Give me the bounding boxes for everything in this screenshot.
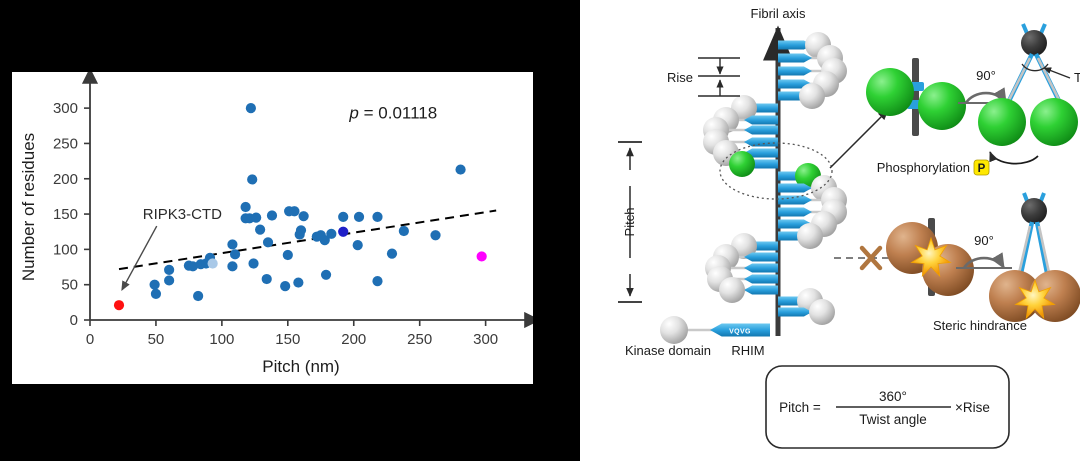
pitch-formula-box: Pitch =360°Twist angle×Rise xyxy=(766,366,1009,448)
data-point[interactable] xyxy=(255,225,265,235)
data-point[interactable] xyxy=(251,212,261,222)
data-point[interactable] xyxy=(248,258,258,268)
data-point[interactable] xyxy=(164,275,174,285)
data-point[interactable] xyxy=(208,258,218,268)
dark-hub-sphere-bottom xyxy=(1021,198,1047,224)
y-axis-tick-label: 150 xyxy=(53,206,78,223)
rhim-arrow xyxy=(744,286,778,295)
scatter-plot-svg: 050100150200250300050100150200250300Pitc… xyxy=(12,72,533,384)
y-axis-tick-label: 300 xyxy=(53,100,78,117)
rhim-arrow xyxy=(778,54,812,63)
rhim-arrow xyxy=(744,138,778,147)
rise-label: Rise xyxy=(667,70,693,85)
formula-numerator: 360° xyxy=(879,389,907,404)
rhim-arrow xyxy=(778,196,812,205)
data-point[interactable] xyxy=(372,276,382,286)
data-point[interactable] xyxy=(455,164,465,174)
data-point[interactable] xyxy=(296,225,306,235)
y-axis-tick-label: 0 xyxy=(70,312,78,329)
x-axis-tick-label: 100 xyxy=(209,331,234,348)
ripk3-ctd-arrow xyxy=(122,226,157,290)
y-axis-title: Number of residues xyxy=(19,133,38,281)
grey-protomer-sphere xyxy=(809,299,835,325)
scatter-series xyxy=(150,103,466,301)
data-point[interactable] xyxy=(387,249,397,259)
rhim-label: RHIM xyxy=(731,343,764,358)
formula-lhs: Pitch = xyxy=(779,400,821,415)
phosphorylation-arrow xyxy=(990,152,1038,164)
scatter-series xyxy=(208,258,218,268)
grey-protomer-sphere xyxy=(719,277,745,303)
fibril-diagram-svg: Fibril axisRisePitchVQVGKinase domainRHI… xyxy=(580,0,1080,461)
x-axis-tick-label: 0 xyxy=(86,331,94,348)
fibril-axis-label: Fibril axis xyxy=(751,6,806,21)
data-point[interactable] xyxy=(164,265,174,275)
twist-angle-label: Twist angle xyxy=(1074,70,1080,85)
data-point[interactable] xyxy=(246,103,256,113)
data-point[interactable] xyxy=(267,210,277,220)
rhim-arrow xyxy=(744,126,778,135)
data-point[interactable] xyxy=(280,281,290,291)
scatter-series xyxy=(338,227,348,237)
green-sphere-top-left xyxy=(978,98,1026,146)
kinase-domain-label: Kinase domain xyxy=(625,343,711,358)
data-point[interactable] xyxy=(289,206,299,216)
green-sphere-left xyxy=(866,68,914,116)
rhim-motif-label: VQVG xyxy=(729,329,751,336)
data-point[interactable] xyxy=(150,280,160,290)
data-point[interactable] xyxy=(299,211,309,221)
y-axis-tick-label: 200 xyxy=(53,171,78,188)
rhim-arrow xyxy=(744,275,778,284)
data-point[interactable] xyxy=(338,212,348,222)
data-point[interactable] xyxy=(321,270,331,280)
kinase-domain-sphere xyxy=(660,316,688,344)
data-point[interactable] xyxy=(353,240,363,250)
x-axis-tick-label: 300 xyxy=(473,331,498,348)
scatter-series xyxy=(114,300,124,310)
scatter-plot-panel: 050100150200250300050100150200250300Pitc… xyxy=(12,72,533,384)
y-axis-tick-label: 50 xyxy=(61,277,78,294)
data-point[interactable] xyxy=(193,291,203,301)
green-sphere-top-right xyxy=(1030,98,1078,146)
steric-hindrance-label: Steric hindrance xyxy=(933,318,1027,333)
rhim-arrow xyxy=(778,67,812,76)
data-point[interactable] xyxy=(372,212,382,222)
y-axis-tick-label: 250 xyxy=(53,135,78,152)
phosphorylation-label: Phosphorylation xyxy=(877,160,970,175)
data-point[interactable] xyxy=(227,261,237,271)
kinase-rhim-legend: VQVG xyxy=(660,316,770,344)
data-point[interactable] xyxy=(247,174,257,184)
ripk3-ctd-label: RIPK3-CTD xyxy=(143,206,222,223)
scatter-series xyxy=(477,251,487,261)
x-axis-tick-label: 50 xyxy=(148,331,165,348)
x-axis-tick-label: 200 xyxy=(341,331,366,348)
phospho-badge-label: P xyxy=(978,163,986,175)
green-pair-top-view xyxy=(978,24,1078,146)
x-axis-tick-label: 150 xyxy=(275,331,300,348)
grey-protomer-sphere xyxy=(797,223,823,249)
rotation-90-top-label: 90° xyxy=(976,68,996,83)
formula-rhs: ×Rise xyxy=(955,400,990,415)
dark-hub-sphere xyxy=(1021,30,1047,56)
data-point[interactable] xyxy=(262,274,272,284)
data-point[interactable] xyxy=(430,230,440,240)
data-point[interactable] xyxy=(399,226,409,236)
green-protomer-sphere xyxy=(729,151,755,177)
pitch-label: Pitch xyxy=(622,208,637,237)
data-point[interactable] xyxy=(477,251,487,261)
data-point[interactable] xyxy=(354,212,364,222)
data-point[interactable] xyxy=(114,300,124,310)
formula-denominator: Twist angle xyxy=(859,412,927,427)
data-point[interactable] xyxy=(230,249,240,259)
rotation-90-top: 90° xyxy=(958,68,1014,103)
data-point[interactable] xyxy=(151,289,161,299)
data-point[interactable] xyxy=(283,250,293,260)
data-point[interactable] xyxy=(227,239,237,249)
rise-bracket xyxy=(698,58,740,96)
data-point[interactable] xyxy=(338,227,348,237)
data-point[interactable] xyxy=(241,202,251,212)
fibril-diagram-panel: Fibril axisRisePitchVQVGKinase domainRHI… xyxy=(580,0,1080,461)
green-pair-side-view xyxy=(866,58,966,136)
rhim-arrow xyxy=(778,208,812,217)
p-value-annotation: p = 0.01118 xyxy=(348,104,437,123)
green-sphere-right xyxy=(918,82,966,130)
rotation-90-bottom-label: 90° xyxy=(974,233,994,248)
x-axis-tick-label: 250 xyxy=(407,331,432,348)
y-axis-tick-label: 100 xyxy=(53,241,78,258)
data-point[interactable] xyxy=(326,229,336,239)
grey-protomer-sphere xyxy=(799,83,825,109)
x-axis-title: Pitch (nm) xyxy=(262,357,339,376)
data-point[interactable] xyxy=(293,277,303,287)
data-point[interactable] xyxy=(263,237,273,247)
rhim-arrow xyxy=(744,264,778,273)
